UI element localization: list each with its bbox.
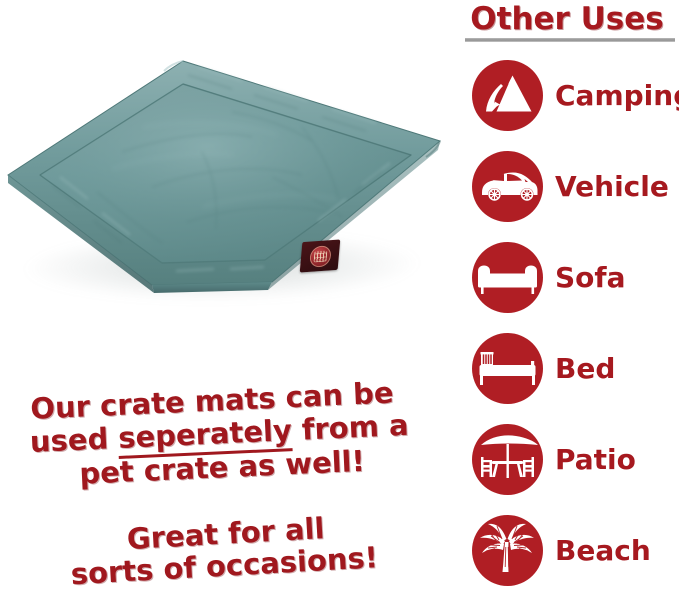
use-item-patio: Patio [455, 414, 679, 505]
secondary-caption: Great for all sorts of occasions! [68, 505, 442, 603]
use-label-vehicle: Vehicle [555, 172, 669, 202]
use-label-bed: Bed [555, 354, 615, 384]
use-label-camping: Camping [555, 81, 679, 111]
title-divider [465, 38, 675, 42]
patio-umbrella-icon [472, 424, 543, 495]
use-item-sofa: Sofa [455, 232, 679, 323]
brand-emblem-icon [309, 245, 332, 268]
palm-tree-icon [472, 515, 543, 586]
other-uses-title: Other Uses [455, 2, 679, 36]
use-item-beach: Beach [455, 505, 679, 596]
use-label-patio: Patio [555, 445, 636, 475]
primary-caption: Our crate mats can be used seperately fr… [16, 374, 441, 503]
car-icon [472, 151, 543, 222]
secondary-caption-line-2: sorts of occasions! [70, 540, 379, 591]
bed-icon [472, 333, 543, 404]
use-label-beach: Beach [555, 536, 651, 566]
brand-label-patch [300, 240, 341, 273]
uses-list: Camping [455, 50, 679, 596]
crate-mat-illustration [0, 55, 450, 310]
use-item-camping: Camping [455, 50, 679, 141]
product-image [0, 55, 450, 310]
use-item-vehicle: Vehicle [455, 141, 679, 232]
tent-icon [472, 60, 543, 131]
primary-caption-line-2-after: from a [291, 408, 409, 447]
primary-caption-line-2-before: used [29, 421, 119, 459]
other-uses-panel: Other Uses Camping [455, 0, 679, 593]
sofa-icon [472, 242, 543, 313]
use-item-bed: Bed [455, 323, 679, 414]
use-label-sofa: Sofa [555, 263, 625, 293]
mat-body [2, 57, 448, 305]
